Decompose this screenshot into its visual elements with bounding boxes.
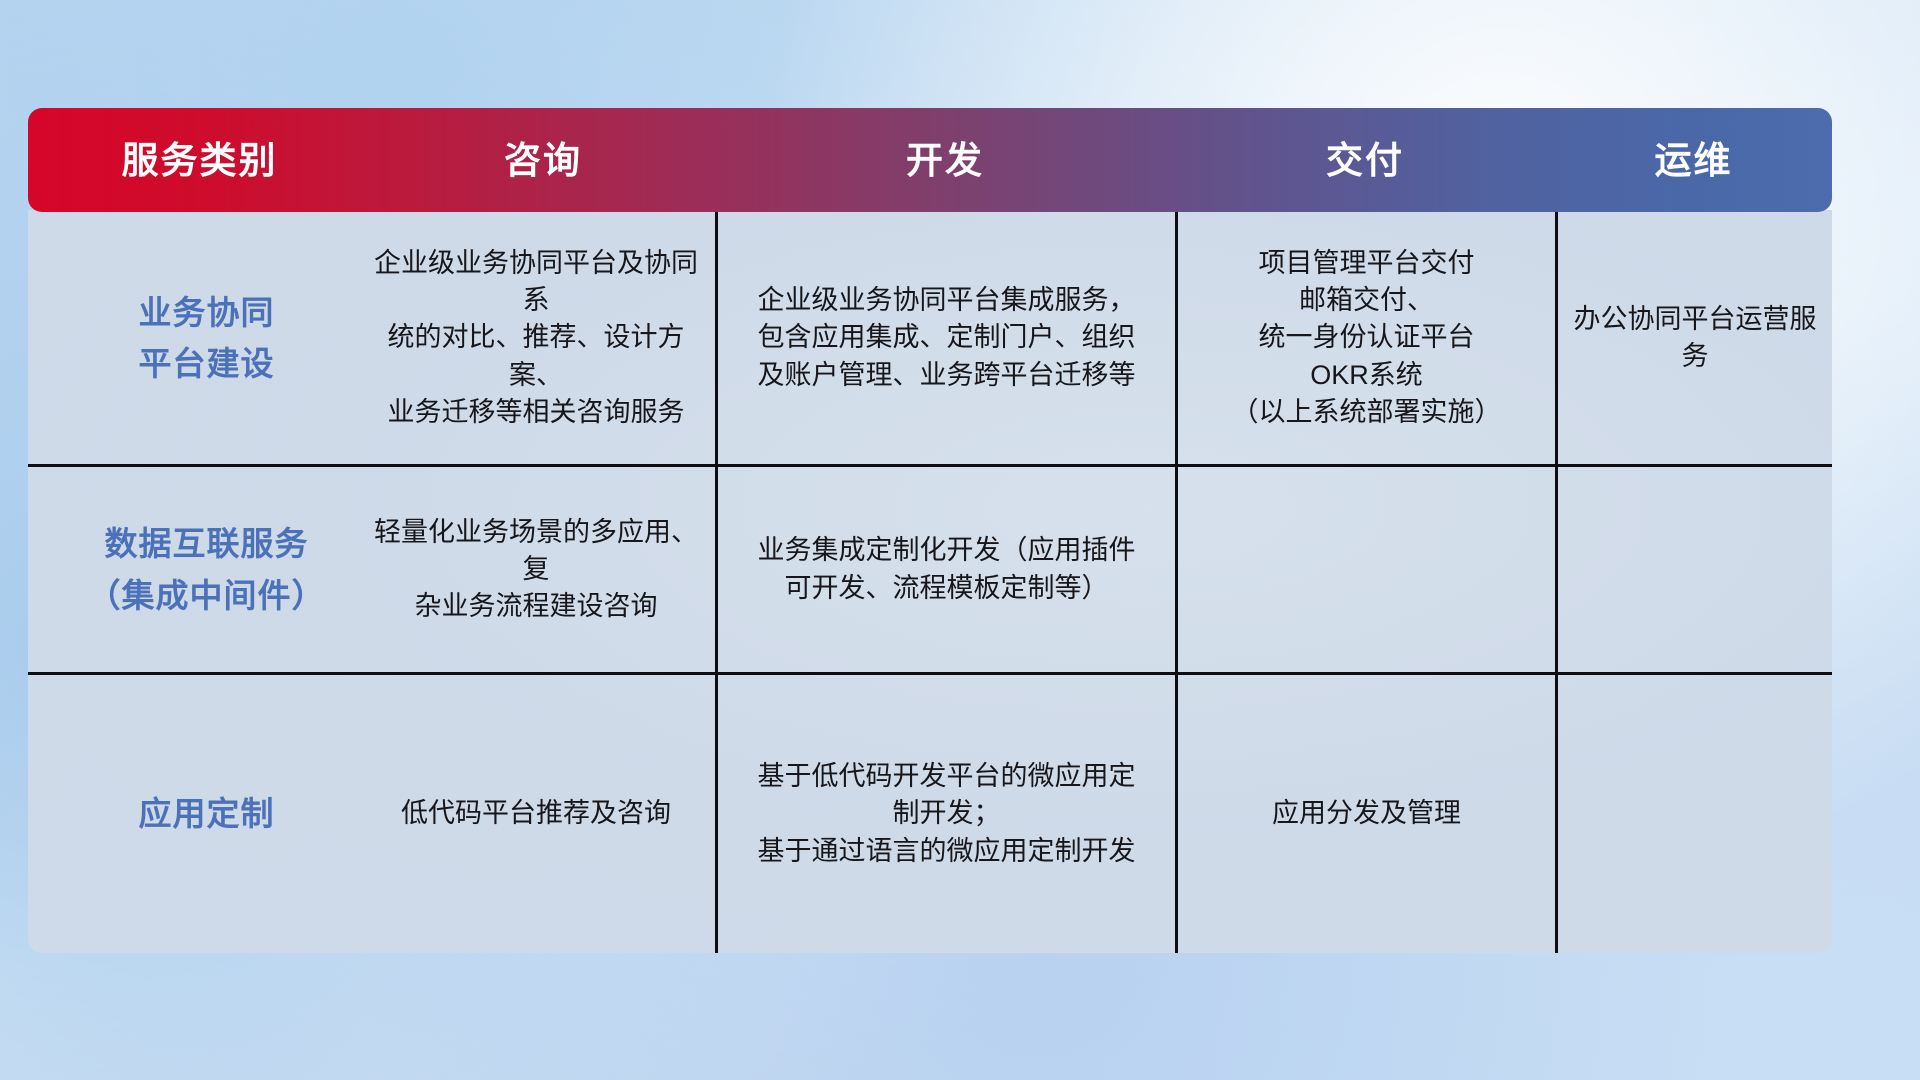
service-category-table: 服务类别 咨询 开发 交付 运维 业务协同 平台建设 企业级业务协同平台及协同系…	[28, 108, 1832, 953]
row1-delivery-cell: 项目管理平台交付 邮箱交付、 统一身份认证平台 OKR系统 （以上系统部署实施）	[1175, 212, 1555, 464]
table-cell-row1-category: 业务协同 平台建设 企业级业务协同平台及协同系 统的对比、推荐、设计方案、 业务…	[28, 212, 715, 464]
row3-operations-cell	[1555, 675, 1832, 953]
row1-category-label: 业务协同 平台建设	[42, 287, 371, 389]
table-header-cell-operations: 运维	[1555, 142, 1832, 179]
table-row: 应用定制 低代码平台推荐及咨询 基于低代码开发平台的微应用定 制开发； 基于通过…	[28, 675, 1832, 953]
row1-operations-cell: 办公协同平台运营服务	[1555, 212, 1832, 464]
row2-delivery-cell	[1175, 467, 1555, 672]
row1-development-cell: 企业级业务协同平台集成服务， 包含应用集成、定制门户、组织 及账户管理、业务跨平…	[715, 212, 1175, 464]
table-row: 数据互联服务 （集成中间件） 轻量化业务场景的多应用、复 杂业务流程建设咨询 业…	[28, 467, 1832, 675]
row2-consulting-cell: 轻量化业务场景的多应用、复 杂业务流程建设咨询	[371, 514, 701, 626]
table-cell-row3-category: 应用定制 低代码平台推荐及咨询	[28, 675, 715, 953]
row2-category-label: 数据互联服务 （集成中间件）	[42, 518, 371, 620]
row2-operations-cell	[1555, 467, 1832, 672]
table-row: 业务协同 平台建设 企业级业务协同平台及协同系 统的对比、推荐、设计方案、 业务…	[28, 212, 1832, 467]
table-header-cell-consulting: 咨询	[371, 142, 715, 179]
row3-consulting-cell: 低代码平台推荐及咨询	[371, 795, 701, 832]
table-header-cell-development: 开发	[715, 142, 1175, 179]
row2-development-cell: 业务集成定制化开发（应用插件 可开发、流程模板定制等）	[715, 467, 1175, 672]
row1-consulting-cell: 企业级业务协同平台及协同系 统的对比、推荐、设计方案、 业务迁移等相关咨询服务	[371, 245, 701, 431]
row3-category-label: 应用定制	[42, 788, 371, 839]
row3-delivery-cell: 应用分发及管理	[1175, 675, 1555, 953]
table-header-row: 服务类别 咨询 开发 交付 运维	[28, 108, 1832, 212]
table-body: 业务协同 平台建设 企业级业务协同平台及协同系 统的对比、推荐、设计方案、 业务…	[28, 212, 1832, 953]
row3-development-cell: 基于低代码开发平台的微应用定 制开发； 基于通过语言的微应用定制开发	[715, 675, 1175, 953]
table-header-cell-delivery: 交付	[1175, 142, 1555, 179]
table-cell-row2-category: 数据互联服务 （集成中间件） 轻量化业务场景的多应用、复 杂业务流程建设咨询	[28, 467, 715, 672]
table-header-cell-service-category: 服务类别	[28, 142, 371, 179]
